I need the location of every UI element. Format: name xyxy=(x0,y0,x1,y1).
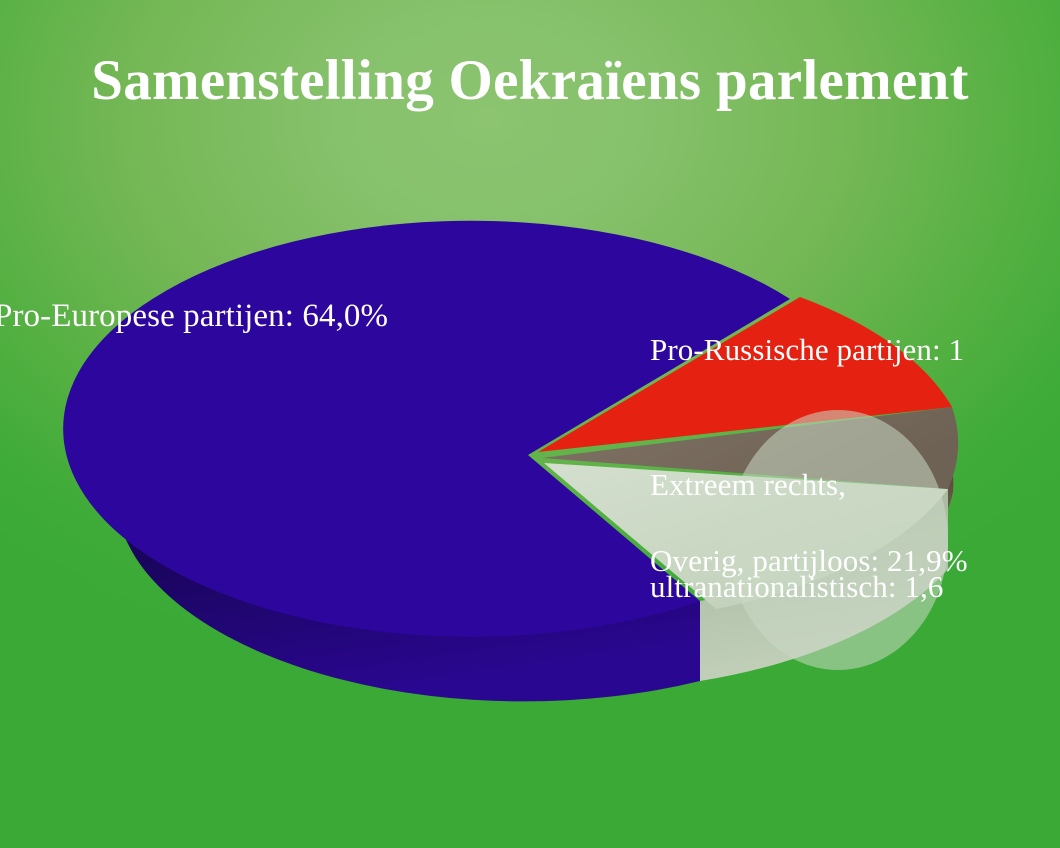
page-title: Samenstelling Oekraïens parlement xyxy=(0,48,1060,113)
pie-label-overig: Overig, partijloos: 21,9% xyxy=(650,544,968,578)
pie-label-extreem-line1: Extreem rechts, xyxy=(650,468,944,502)
slide-canvas: Samenstelling Oekraïens parlement Pro-Eu… xyxy=(0,0,1060,848)
pie-label-extreem: Extreem rechts, ultranationalistisch: 1,… xyxy=(650,400,944,673)
pie-label-pro-russische: Pro-Russische partijen: 1 xyxy=(650,333,964,367)
pie-label-pro-europese: Pro-Europese partijen: 64,0% xyxy=(0,298,388,334)
